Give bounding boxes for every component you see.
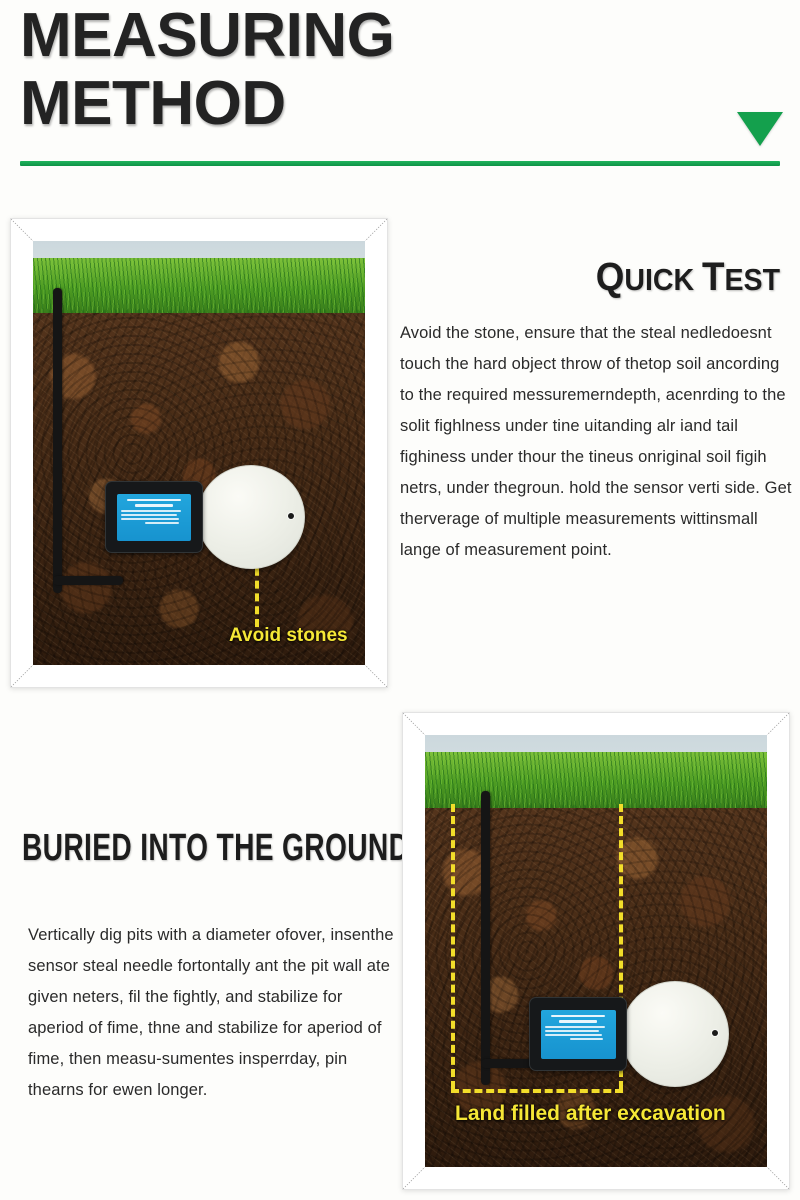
screen-text-line — [127, 499, 182, 502]
header-divider — [20, 161, 780, 166]
screen-text-line — [135, 504, 172, 507]
excavation-dash-bottom — [451, 1089, 623, 1093]
photo-frame-quick-test: Avoid stones — [10, 218, 388, 688]
infographic-page: MEASURING METHOD — [0, 0, 800, 1200]
heading-cap-t: T — [702, 255, 724, 299]
photo-frame-buried: Land filled after excavation — [402, 712, 790, 1190]
screen-text-line — [545, 1034, 603, 1037]
page-header: MEASURING METHOD — [0, 0, 800, 180]
page-title: MEASURING METHOD — [20, 2, 640, 138]
photo-quick-test: Avoid stones — [33, 241, 365, 665]
heading-cap-q: Q — [596, 255, 625, 299]
sensor-screen — [117, 494, 192, 542]
soil-sensor-device — [105, 478, 305, 556]
sensor-disc — [621, 981, 729, 1087]
probe-cable — [53, 288, 62, 593]
sensor-disc — [197, 465, 305, 569]
screen-text-line — [570, 1038, 603, 1041]
screen-text-line — [559, 1020, 598, 1023]
soil-sensor-device — [529, 994, 729, 1074]
photo-buried: Land filled after excavation — [425, 735, 767, 1167]
screen-text-line — [121, 518, 180, 521]
screen-text-line — [121, 510, 181, 513]
excavation-dash-left — [451, 804, 455, 1089]
section-body-quick-test: Avoid the stone, ensure that the steal n… — [400, 318, 792, 566]
screen-text-line — [545, 1026, 605, 1029]
probe-cable-elbow — [53, 576, 123, 585]
probe-cable — [481, 791, 490, 1085]
sensor-body — [105, 481, 203, 553]
triangle-down-icon — [737, 112, 783, 146]
photo-caption-land-filled: Land filled after excavation — [455, 1102, 726, 1126]
heading-rest-uick: UICK — [624, 262, 694, 297]
section-heading-quick-test: QUICK TEST — [430, 255, 780, 302]
sensor-body — [529, 997, 627, 1071]
sensor-screen — [541, 1010, 616, 1059]
section-body-buried: Vertically dig pits with a diameter ofov… — [28, 920, 398, 1106]
screen-text-line — [545, 1030, 600, 1033]
screen-text-line — [121, 514, 177, 517]
screen-text-line — [145, 522, 180, 525]
screen-text-line — [551, 1015, 606, 1018]
photo-caption-avoid-stones: Avoid stones — [229, 625, 348, 647]
heading-rest-est: EST — [725, 262, 780, 297]
section-heading-buried: BURIED INTO THE GROUND — [22, 826, 409, 870]
